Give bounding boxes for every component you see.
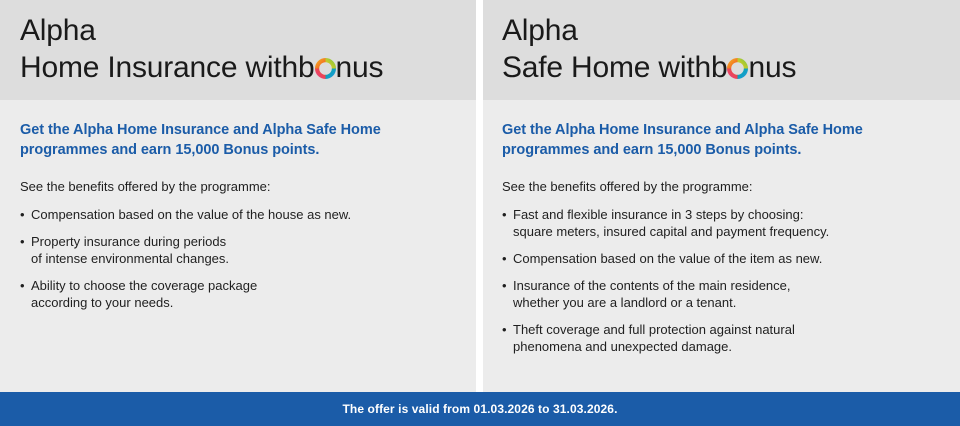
benefit-item: Compensation based on the value of the i… — [502, 250, 938, 267]
benefit-item: Compensation based on the value of the h… — [20, 206, 454, 223]
panel-body-left: Get the Alpha Home Insurance and Alpha S… — [0, 100, 476, 311]
panel-body-right: Get the Alpha Home Insurance and Alpha S… — [483, 100, 960, 355]
benefit-line1: Ability to choose the coverage package — [31, 278, 257, 293]
benefit-line2: whether you are a landlord or a tenant. — [513, 294, 938, 311]
panel-lead-text: Get the Alpha Home Insurance and Alpha S… — [20, 120, 454, 160]
benefits-list-left: Compensation based on the value of the h… — [20, 206, 454, 311]
panel-intro-text: See the benefits offered by the programm… — [502, 178, 938, 195]
bonus-wordmark: b — [298, 49, 383, 86]
panel-home-insurance: Alpha Home Insurance with b — [0, 0, 476, 392]
bonus-wordmark-after: nus — [748, 49, 796, 86]
benefit-line1: Insurance of the contents of the main re… — [513, 278, 791, 293]
benefit-line1: Compensation based on the value of the h… — [31, 207, 351, 222]
benefit-line2: phenomena and unexpected damage. — [513, 338, 938, 355]
benefit-line2: square meters, insured capital and payme… — [513, 223, 938, 240]
bonus-wordmark-before: b — [711, 49, 728, 86]
benefit-item: Insurance of the contents of the main re… — [502, 277, 938, 311]
promo-banner: Alpha Home Insurance with b — [0, 0, 960, 426]
bonus-wordmark-after: nus — [336, 49, 384, 86]
panel-divider — [476, 0, 483, 392]
benefit-line2: according to your needs. — [31, 294, 454, 311]
benefit-line1: Compensation based on the value of the i… — [513, 251, 822, 266]
benefit-line1: Fast and flexible insurance in 3 steps b… — [513, 207, 804, 222]
panel-intro-text: See the benefits offered by the programm… — [20, 178, 454, 195]
offer-validity-text: The offer is valid from 01.03.2026 to 31… — [342, 402, 617, 416]
panel-safe-home: Alpha Safe Home with b — [483, 0, 960, 392]
benefit-line2: of intense environmental changes. — [31, 250, 454, 267]
benefits-list-right: Fast and flexible insurance in 3 steps b… — [502, 206, 938, 355]
benefit-line1: Property insurance during periods — [31, 234, 226, 249]
benefit-item: Property insurance during periods of int… — [20, 233, 454, 267]
panel-header-right: Alpha Safe Home with b — [483, 0, 960, 100]
benefit-item: Ability to choose the coverage package a… — [20, 277, 454, 311]
panel-title-line1: Alpha — [20, 12, 476, 49]
bonus-wordmark-before: b — [298, 49, 315, 86]
benefit-line1: Theft coverage and full protection again… — [513, 322, 795, 337]
bonus-ring-icon — [315, 58, 336, 79]
panel-lead-text: Get the Alpha Home Insurance and Alpha S… — [502, 120, 938, 160]
panel-title-line2: Home Insurance with b — [20, 49, 476, 86]
panel-title-line2: Safe Home with b — [502, 49, 960, 86]
panel-title-line2-prefix: Safe Home with — [502, 49, 711, 86]
panel-title-line2-prefix: Home Insurance with — [20, 49, 298, 86]
bonus-ring-icon — [727, 58, 748, 79]
bonus-wordmark: b — [711, 49, 796, 86]
panel-title-line1: Alpha — [502, 12, 960, 49]
offer-validity-bar: The offer is valid from 01.03.2026 to 31… — [0, 392, 960, 426]
panel-header-left: Alpha Home Insurance with b — [0, 0, 476, 100]
benefit-item: Fast and flexible insurance in 3 steps b… — [502, 206, 938, 240]
benefit-item: Theft coverage and full protection again… — [502, 321, 938, 355]
